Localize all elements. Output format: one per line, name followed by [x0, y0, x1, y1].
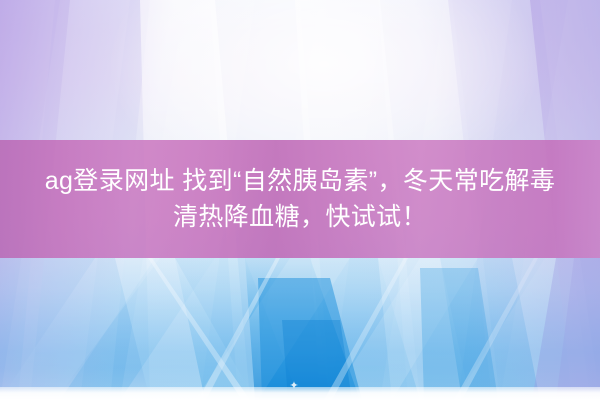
headline-line-2: 清热降血糖，快试试！	[173, 199, 427, 236]
headline-line-1: ag登录网址 找到“自然胰岛素”，冬天常吃解毒	[45, 163, 556, 200]
bottom-strip	[0, 387, 600, 400]
headline-band: ag登录网址 找到“自然胰岛素”，冬天常吃解毒 清热降血糖，快试试！	[0, 140, 600, 258]
banner: ag登录网址 找到“自然胰岛素”，冬天常吃解毒 清热降血糖，快试试！ ✦	[0, 0, 600, 400]
